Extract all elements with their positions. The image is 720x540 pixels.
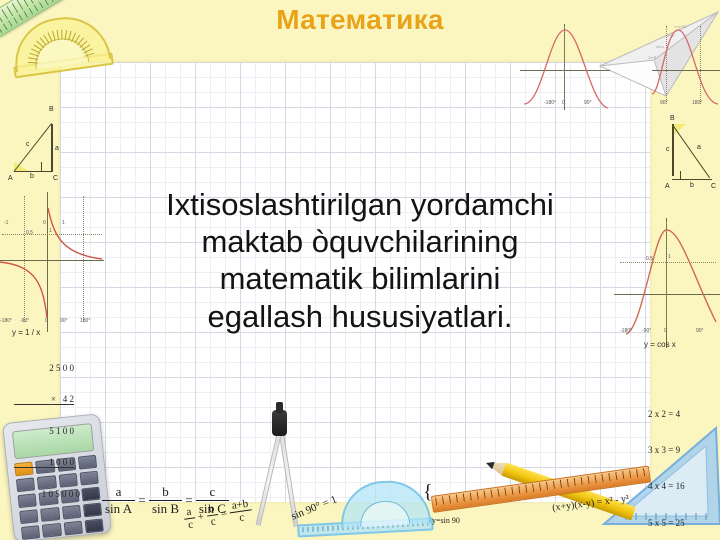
triangle-label-a: a (55, 145, 59, 152)
fraction-b-c: b c (205, 502, 220, 528)
denominator-c: c (184, 517, 197, 531)
numerator-b: b (149, 484, 182, 500)
squares-multiplication-table: 2 x 2 = 4 3 x 3 = 9 4 x 4 = 16 5 x 5 = 2… (648, 384, 685, 540)
triangle-side-c (14, 123, 52, 172)
body-line-1: Ixtisoslashtirilgan yordamchi (90, 186, 630, 223)
hyperbola-curve (0, 192, 104, 332)
hyperbola-plot: -1 0 1 1 0,5 -180° -90° 0 90° 180° y = 1… (0, 192, 104, 332)
squares-row: 3 x 3 = 9 (648, 444, 685, 456)
calculator-key (78, 455, 98, 470)
squares-row: 5 x 5 = 25 (648, 517, 685, 529)
squares-row: 4 x 4 = 16 (648, 480, 685, 492)
plot-top-label-1: 1 (62, 220, 65, 226)
plot-xtick-90: 90° (60, 318, 68, 324)
longmult-line-3: 5 1 0 0 (14, 426, 74, 436)
body-line-2: maktab òquvchilarining (90, 223, 630, 260)
sine-plot-right: 90° 180° (652, 24, 720, 110)
plot-ytick-half: 0,5 (26, 230, 33, 236)
plot-xtick-180: 180° (80, 318, 90, 324)
plot-xtick: 90° (660, 100, 668, 106)
triangle-diagram-right: B A C c b a (664, 116, 718, 192)
page-title: Математика (0, 4, 720, 36)
system-of-equations: { y=sin 90 x=25y + 45 { y= 1 x= 25 + 45 … (424, 462, 490, 540)
hyperbola-caption: y = 1 / x (12, 328, 40, 337)
calculator-key (79, 471, 99, 486)
triangle-label-c: c (26, 141, 30, 148)
squares-row: 2 x 2 = 4 (648, 408, 685, 420)
triangle-vertex-B: B (49, 106, 54, 113)
calculator-key (42, 523, 62, 538)
triangle-label-c: c (666, 146, 670, 153)
equals-sign: = (138, 493, 145, 508)
plot-xtick-90: 90° (696, 328, 704, 334)
numerator-c: c (196, 484, 229, 500)
triangle-vertex-B: B (670, 115, 675, 122)
body-line-4: egallash hususiyatlari. (90, 298, 630, 335)
plot-xtick: 90° (584, 100, 592, 106)
plot-ytick-half: 0,5 (646, 256, 653, 262)
sine-plot-left: -180° 0 90° (520, 24, 610, 110)
blue-protractor-icon (339, 474, 427, 528)
compass-hinge (272, 410, 287, 436)
triangle-vertex-A: A (8, 175, 13, 182)
triangle-label-a: a (697, 144, 701, 151)
system-eq-1: y=sin 90 (432, 516, 490, 527)
plot-xtick: -180° (544, 100, 556, 106)
compass-knob (276, 402, 283, 413)
plot-xtick-0: 0 (664, 328, 667, 334)
triangle-side-c (672, 124, 674, 176)
slide-canvas: Математика Ixtisoslashtirilgan yordamchi… (0, 0, 720, 540)
triangle-label-b: b (30, 173, 34, 180)
triangle-diagram-left: A B C b a c (8, 108, 64, 182)
compass-leg-right (256, 427, 283, 526)
plot-ytick-1: 1 (668, 254, 671, 260)
triangle-side-a (673, 125, 711, 178)
calculator-key (83, 503, 103, 518)
plot-xtick-n180: -180° (0, 318, 12, 324)
plot-xtick: 180° (692, 100, 702, 106)
plot-xtick-n90: -90° (20, 318, 29, 324)
plot-xtick-n90: -90° (642, 328, 651, 334)
numerator-a: a (102, 484, 135, 500)
triangle-vertex-A: A (665, 183, 670, 190)
denominator-sinB: sin B (149, 500, 182, 517)
denominator-sinA: sin A (102, 500, 135, 517)
calculator-key (21, 525, 41, 540)
right-angle-mark-h (41, 171, 51, 172)
plus-sign: + (197, 511, 205, 524)
equals-sign: = (220, 507, 228, 520)
fraction-ab-c: a+b c (228, 497, 254, 525)
slide-body-text: Ixtisoslashtirilgan yordamchi maktab òqu… (90, 186, 630, 335)
denominator-c: c (207, 514, 220, 528)
triangle-vertex-C: C (711, 183, 716, 190)
long-multiplication-example: 2 5 0 0 × 4 2 5 1 0 0 1 0 0 0 1 0 5 0 0 … (14, 342, 80, 520)
triangle-label-b: b (690, 182, 694, 189)
longmult-result: 1 0 5 0 0 0 (14, 489, 80, 499)
longmult-line-1: 2 5 0 0 (14, 363, 74, 373)
left-brace: { (423, 479, 433, 506)
body-line-3: matematik bilimlarini (90, 260, 630, 297)
fraction-a-c: a c (183, 505, 197, 531)
right-angle-mark-v (41, 162, 42, 172)
triangle-side-a (51, 124, 53, 172)
cosine-caption: y = cos x (644, 340, 676, 349)
plot-ytick-1: 1 (49, 228, 52, 234)
plot-top-label-neg1: -1 (4, 220, 8, 226)
fraction-a-sinA: a sin A (102, 484, 135, 517)
calculator-key (63, 521, 83, 536)
plot-xtick-0: 0 (45, 318, 48, 324)
longmult-line-2: × 4 2 (14, 394, 74, 405)
plot-top-label-0: 0 (43, 220, 46, 226)
fraction-b-sinB: b sin B (149, 484, 182, 517)
right-angle-mark-v (680, 171, 681, 180)
triangle-vertex-C: C (53, 175, 58, 182)
calculator-key (81, 487, 101, 502)
calculator-key (84, 518, 104, 533)
longmult-line-4: 1 0 0 0 (14, 457, 74, 468)
plot-xtick: 0 (562, 100, 565, 106)
